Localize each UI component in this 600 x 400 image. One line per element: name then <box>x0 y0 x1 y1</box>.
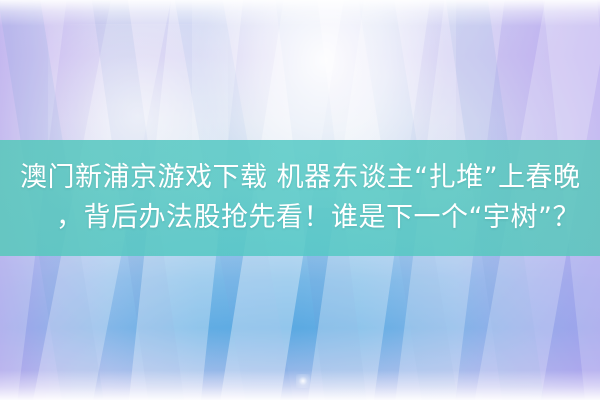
sparkle-highlight <box>296 374 310 388</box>
top-white-fade <box>0 0 600 26</box>
banner-headline-line-2: ，背后办法股抢先看！谁是下一个“宇树”？ <box>8 198 592 238</box>
banner-headline-line-1: 澳门新浦京游戏下载 机器东谈主“扎堆”上春晚 <box>8 158 592 198</box>
text-banner-strip: 澳门新浦京游戏下载 机器东谈主“扎堆”上春晚 ，背后办法股抢先看！谁是下一个“宇… <box>0 140 600 256</box>
banner-image: 澳门新浦京游戏下载 机器东谈主“扎堆”上春晚 ，背后办法股抢先看！谁是下一个“宇… <box>0 0 600 400</box>
